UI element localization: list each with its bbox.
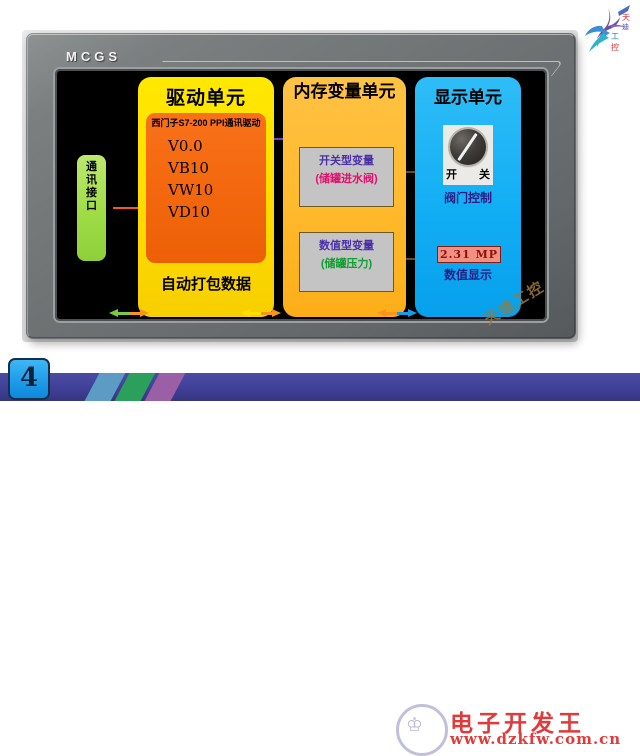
- rotary-switch-labels: 开 关: [443, 166, 493, 182]
- site-logo-watermark: ♔ 电子开发王 www.dzkfw.com.cn: [396, 700, 636, 752]
- arrow-memory-to-display: [377, 309, 417, 318]
- rotary-switch-widget[interactable]: 开 关: [443, 125, 493, 185]
- comm-port-block[interactable]: 通讯接口: [77, 155, 106, 261]
- variable-type-label: 开关型变量: [300, 152, 393, 168]
- variable-box-numeric[interactable]: 数值型变量 (储罐压力): [299, 232, 394, 292]
- svg-text:控: 控: [611, 42, 619, 52]
- svg-text:工: 工: [611, 32, 619, 41]
- arrow-driver-to-memory: [241, 309, 281, 318]
- display-unit-title: 显示单元: [415, 77, 521, 108]
- svg-text:迪: 迪: [622, 22, 629, 31]
- variable-name-label: (储罐进水阀): [300, 170, 393, 186]
- hmi-device: MCGS: [26, 33, 576, 339]
- memory-unit-panel[interactable]: 内存变量单元 开关型变量 (储罐进水阀) 数值型变量 (储罐压力): [283, 77, 406, 317]
- hmi-screen: 通讯接口 驱动单元 西门子S7-200 PPI通讯驱动 V0.0 VB10 VW…: [55, 69, 547, 321]
- variable-name-label: (储罐压力): [300, 255, 393, 271]
- switch-on-label: 开: [446, 166, 457, 182]
- arrow-comm-to-driver: [109, 309, 149, 318]
- crown-icon: ♔: [406, 716, 423, 735]
- driver-unit-panel[interactable]: 驱动单元 西门子S7-200 PPI通讯驱动 V0.0 VB10 VW10 VD…: [138, 77, 274, 317]
- numeric-readout-value: 2.31 MP: [437, 246, 501, 263]
- driver-tag: VB10: [168, 157, 266, 179]
- display-unit-panel[interactable]: 显示单元 开 关 阀门控制 2.31 MP 数值显示: [415, 77, 521, 317]
- driver-tag: VW10: [168, 179, 266, 201]
- rotary-knob-icon[interactable]: [450, 129, 486, 165]
- driver-unit-subtitle: 西门子S7-200 PPI通讯驱动: [146, 116, 266, 129]
- site-logo-url: www.dzkfw.com.cn: [450, 730, 621, 748]
- variable-box-switch[interactable]: 开关型变量 (储罐进水阀): [299, 147, 394, 207]
- hummingbird-logo: 天 迪 工 控: [578, 2, 638, 60]
- driver-tag: V0.0: [168, 135, 266, 157]
- comm-port-label: 通讯接口: [77, 161, 106, 213]
- page-number-badge: 4: [8, 358, 50, 400]
- svg-text:天: 天: [622, 13, 630, 22]
- numeric-display-caption: 数值显示: [415, 266, 521, 283]
- page-footer: 4 ♔ 电子开发王 www.dzkfw.com.cn: [0, 352, 640, 401]
- device-brand-label: MCGS: [66, 49, 121, 64]
- variable-type-label: 数值型变量: [300, 237, 393, 253]
- switch-off-label: 关: [479, 166, 490, 182]
- memory-unit-title: 内存变量单元: [283, 77, 406, 102]
- driver-unit-body: 西门子S7-200 PPI通讯驱动 V0.0 VB10 VW10 VD10: [146, 113, 266, 263]
- driver-tag: VD10: [168, 201, 266, 223]
- driver-unit-title: 驱动单元: [138, 77, 274, 110]
- driver-unit-footer-label: 自动打包数据: [138, 273, 274, 294]
- valve-control-caption: 阀门控制: [415, 189, 521, 206]
- driver-tag-list: V0.0 VB10 VW10 VD10: [168, 135, 266, 223]
- page-root: MCGS: [0, 0, 640, 401]
